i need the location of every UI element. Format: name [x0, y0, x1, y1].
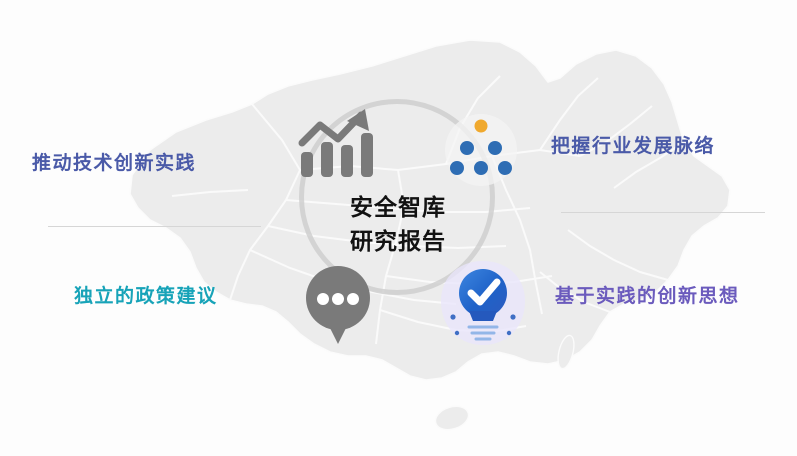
page-title-line-2: 研究报告 [318, 224, 478, 258]
label-bottom-right: 基于实践的创新思想 [555, 281, 740, 308]
label-top-left: 推动技术创新实践 [32, 148, 196, 175]
bar-chart-growth-icon [295, 105, 377, 183]
page-title: 安全智库 研究报告 [318, 190, 478, 258]
speech-bubble-icon [298, 262, 378, 346]
china-map-hainan [432, 402, 471, 433]
label-bottom-left: 独立的政策建议 [74, 281, 218, 308]
divider-left [48, 226, 261, 227]
page-title-line-1: 安全智库 [318, 190, 478, 224]
divider-right [561, 212, 765, 213]
network-dots-icon [440, 110, 522, 188]
label-top-right: 把握行业发展脉络 [551, 131, 715, 158]
infographic-canvas: 安全智库 研究报告 推动技术创新实践 把握行业发展脉络 独立的政策建议 基于实践… [0, 0, 797, 456]
network-dot-accent [475, 120, 488, 133]
lightbulb-check-icon [437, 257, 529, 349]
